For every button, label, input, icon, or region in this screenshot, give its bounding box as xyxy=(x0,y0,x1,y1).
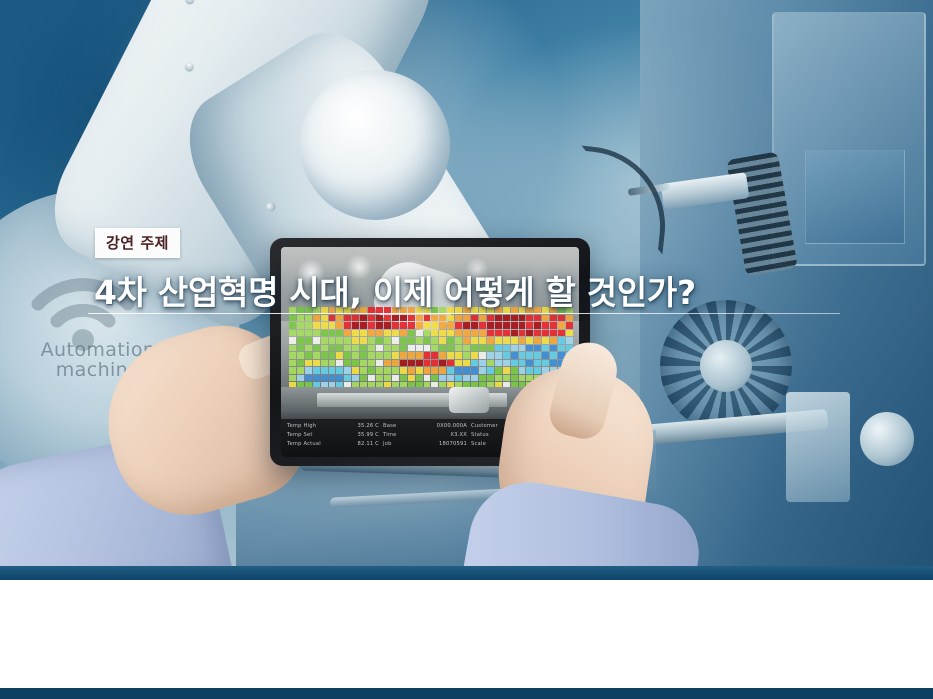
telemetry-value: 0X00.000A xyxy=(437,422,467,430)
ar-feed-tool-head xyxy=(449,387,489,413)
heatmap-cell xyxy=(384,315,391,322)
heatmap-cell xyxy=(558,345,565,352)
heatmap-cell xyxy=(368,375,375,382)
heatmap-cell xyxy=(534,367,541,374)
heatmap-cell xyxy=(321,375,328,382)
heatmap-cell xyxy=(471,337,478,344)
heatmap-cell xyxy=(495,375,502,382)
heatmap-cell xyxy=(305,367,312,374)
heatmap-cell xyxy=(511,330,518,337)
cnc-panel-screen xyxy=(805,150,905,244)
heatmap-cell xyxy=(392,315,399,322)
heatmap-cell xyxy=(360,322,367,329)
heatmap-cell xyxy=(424,315,431,322)
heatmap-cell xyxy=(329,360,336,367)
heatmap-cell xyxy=(479,352,486,359)
heatmap-cell xyxy=(526,315,533,322)
heatmap-cell xyxy=(297,375,304,382)
heatmap-cell xyxy=(439,330,446,337)
heatmap-cell xyxy=(376,322,383,329)
heatmap-cell xyxy=(439,375,446,382)
heatmap-cell xyxy=(376,352,383,359)
heatmap-cell xyxy=(542,360,549,367)
robot-arm-bolt xyxy=(265,201,277,213)
heatmap-cell xyxy=(534,352,541,359)
heatmap-cell xyxy=(534,360,541,367)
telemetry-key: Base xyxy=(383,422,396,430)
heatmap-cell xyxy=(321,330,328,337)
heatmap-cell xyxy=(511,352,518,359)
heatmap-cell xyxy=(471,367,478,374)
heatmap-cell xyxy=(471,330,478,337)
heatmap-cell xyxy=(558,315,565,322)
heatmap-cell xyxy=(550,337,557,344)
heatmap-cell xyxy=(368,322,375,329)
heatmap-cell xyxy=(392,330,399,337)
heatmap-cell xyxy=(558,322,565,329)
heatmap-cell xyxy=(487,345,494,352)
heatmap-cell xyxy=(384,322,391,329)
heatmap-cell xyxy=(400,315,407,322)
heatmap-cell xyxy=(431,367,438,374)
heatmap-cell xyxy=(376,375,383,382)
heatmap-cell xyxy=(566,322,573,329)
heatmap-cell xyxy=(495,337,502,344)
title-underline-rule xyxy=(88,313,840,314)
heatmap-cell xyxy=(439,337,446,344)
heatmap-cell xyxy=(455,337,462,344)
heatmap-cell xyxy=(408,315,415,322)
heatmap-cell xyxy=(526,367,533,374)
heatmap-cell xyxy=(416,337,423,344)
heatmap-cell xyxy=(495,360,502,367)
heatmap-cell xyxy=(384,360,391,367)
heatmap-cell xyxy=(321,322,328,329)
heatmap-cell xyxy=(526,322,533,329)
heatmap-cell xyxy=(297,315,304,322)
heatmap-cell xyxy=(400,375,407,382)
heatmap-cell xyxy=(447,337,454,344)
heatmap-cell xyxy=(297,352,304,359)
heatmap-cell xyxy=(329,352,336,359)
heatmap-cell xyxy=(297,322,304,329)
heatmap-cell xyxy=(329,375,336,382)
telemetry-column: Temp High35.26 CTemp Set35.99 CTemp Actu… xyxy=(287,422,379,457)
heatmap-cell xyxy=(463,360,470,367)
heatmap-cell xyxy=(336,360,343,367)
heatmap-cell xyxy=(400,322,407,329)
heatmap-cell xyxy=(329,367,336,374)
slide-title: 4차 산업혁명 시대, 이제 어떻게 할 것인가? xyxy=(94,266,696,314)
heatmap-cell xyxy=(392,345,399,352)
heatmap-cell xyxy=(511,322,518,329)
heatmap-cell xyxy=(313,330,320,337)
heatmap-cell xyxy=(566,315,573,322)
heatmap-cell xyxy=(439,345,446,352)
heatmap-cell xyxy=(455,315,462,322)
heatmap-cell xyxy=(455,367,462,374)
heatmap-cell xyxy=(344,345,351,352)
heatmap-cell xyxy=(503,375,510,382)
heatmap-cell xyxy=(305,352,312,359)
heatmap-cell xyxy=(416,360,423,367)
heatmap-cell xyxy=(479,322,486,329)
heatmap-cell xyxy=(519,330,526,337)
heatmap-cell xyxy=(360,360,367,367)
heatmap-cell xyxy=(336,315,343,322)
heatmap-cell xyxy=(368,337,375,344)
heatmap-cell xyxy=(519,322,526,329)
heatmap-cell xyxy=(447,360,454,367)
heatmap-cell xyxy=(526,337,533,344)
heatmap-cell xyxy=(416,375,423,382)
heatmap-cell xyxy=(487,360,494,367)
heatmap-cell xyxy=(519,345,526,352)
heatmap-cell xyxy=(313,352,320,359)
heatmap-cell xyxy=(352,375,359,382)
heatmap-cell xyxy=(313,337,320,344)
heatmap-cell xyxy=(487,322,494,329)
heatmap-cell xyxy=(487,367,494,374)
telemetry-row: Temp Set35.99 C xyxy=(287,431,379,439)
heatmap-cell xyxy=(424,345,431,352)
heatmap-cell xyxy=(352,315,359,322)
telemetry-key: Status xyxy=(471,431,489,439)
heatmap-cell xyxy=(392,360,399,367)
heatmap-cell xyxy=(534,322,541,329)
heatmap-cell xyxy=(321,360,328,367)
heatmap-cell xyxy=(503,367,510,374)
heatmap-cell xyxy=(400,367,407,374)
telemetry-key: Customer xyxy=(471,422,498,430)
heatmap-cell xyxy=(360,345,367,352)
heatmap-cell xyxy=(550,330,557,337)
heatmap-cell xyxy=(392,337,399,344)
heatmap-cell xyxy=(431,322,438,329)
heatmap-cell xyxy=(368,360,375,367)
heatmap-cell xyxy=(336,330,343,337)
thermal-heatmap-grid[interactable] xyxy=(289,307,573,389)
heatmap-cell xyxy=(463,315,470,322)
heatmap-cell xyxy=(321,315,328,322)
heatmap-cell xyxy=(511,367,518,374)
heatmap-cell xyxy=(550,345,557,352)
heatmap-cell xyxy=(297,345,304,352)
heatmap-cell xyxy=(344,375,351,382)
presentation-slide: Automation machine Temp High35.26 CTemp … xyxy=(0,0,933,699)
heatmap-cell xyxy=(526,345,533,352)
telemetry-key: Time xyxy=(383,431,397,439)
heatmap-cell xyxy=(471,322,478,329)
heatmap-cell xyxy=(297,367,304,374)
heatmap-cell xyxy=(400,337,407,344)
heatmap-cell xyxy=(368,352,375,359)
heatmap-cell xyxy=(360,352,367,359)
heatmap-cell xyxy=(329,322,336,329)
heatmap-cell xyxy=(408,345,415,352)
heatmap-cell xyxy=(336,352,343,359)
heatmap-cell xyxy=(503,315,510,322)
heatmap-cell xyxy=(519,360,526,367)
heatmap-cell xyxy=(519,337,526,344)
heatmap-cell xyxy=(558,330,565,337)
heatmap-cell xyxy=(503,345,510,352)
heatmap-cell xyxy=(384,337,391,344)
heatmap-cell xyxy=(344,330,351,337)
heatmap-cell xyxy=(566,330,573,337)
telemetry-key: Scale xyxy=(471,440,486,448)
heatmap-cell xyxy=(408,352,415,359)
heatmap-cell xyxy=(384,345,391,352)
heatmap-cell xyxy=(289,367,296,374)
heatmap-cell xyxy=(400,352,407,359)
heatmap-cell xyxy=(289,345,296,352)
heatmap-cell xyxy=(297,337,304,344)
heatmap-cell xyxy=(416,330,423,337)
heatmap-cell xyxy=(376,360,383,367)
heatmap-cell xyxy=(344,352,351,359)
telemetry-row: TimeX3.XX xyxy=(383,431,467,439)
heatmap-cell xyxy=(376,315,383,322)
heatmap-cell xyxy=(344,337,351,344)
heatmap-cell xyxy=(511,345,518,352)
heatmap-cell xyxy=(495,352,502,359)
telemetry-key: Job xyxy=(383,440,392,448)
heatmap-cell xyxy=(305,337,312,344)
heatmap-cell xyxy=(289,315,296,322)
heatmap-cell xyxy=(305,322,312,329)
heatmap-cell xyxy=(550,322,557,329)
topic-badge: 강연 주제 xyxy=(95,228,180,258)
heatmap-cell xyxy=(534,315,541,322)
heatmap-cell xyxy=(416,322,423,329)
heatmap-cell xyxy=(519,315,526,322)
heatmap-cell xyxy=(384,330,391,337)
heatmap-cell xyxy=(424,337,431,344)
telemetry-value: 18070591 xyxy=(439,440,467,448)
heatmap-cell xyxy=(408,330,415,337)
robot-arm-bolt xyxy=(184,0,196,6)
heatmap-cell xyxy=(479,345,486,352)
telemetry-value: X3.XX xyxy=(450,431,467,439)
heatmap-cell xyxy=(368,345,375,352)
heatmap-cell xyxy=(305,375,312,382)
heatmap-cell xyxy=(329,315,336,322)
heatmap-cell xyxy=(534,337,541,344)
photo-bottom-band xyxy=(0,566,933,580)
heatmap-cell xyxy=(503,322,510,329)
heatmap-cell xyxy=(542,337,549,344)
heatmap-cell xyxy=(439,367,446,374)
heatmap-cell xyxy=(471,360,478,367)
heatmap-cell xyxy=(431,352,438,359)
heatmap-cell xyxy=(511,315,518,322)
heatmap-cell xyxy=(558,337,565,344)
heatmap-cell xyxy=(526,360,533,367)
heatmap-cell xyxy=(550,360,557,367)
heatmap-cell xyxy=(400,330,407,337)
heatmap-cell xyxy=(463,367,470,374)
heatmap-cell xyxy=(542,330,549,337)
heatmap-cell xyxy=(336,367,343,374)
heatmap-cell xyxy=(455,330,462,337)
heatmap-cell xyxy=(511,360,518,367)
heatmap-cell xyxy=(424,352,431,359)
heatmap-cell xyxy=(487,375,494,382)
heatmap-cell xyxy=(352,345,359,352)
heatmap-cell xyxy=(321,337,328,344)
heatmap-cell xyxy=(360,330,367,337)
heatmap-cell xyxy=(344,315,351,322)
heatmap-cell xyxy=(439,352,446,359)
heatmap-cell xyxy=(439,315,446,322)
heatmap-cell xyxy=(431,360,438,367)
heatmap-cell xyxy=(479,330,486,337)
heatmap-cell xyxy=(439,360,446,367)
heatmap-cell xyxy=(344,367,351,374)
heatmap-cell xyxy=(479,315,486,322)
heatmap-cell xyxy=(368,367,375,374)
heatmap-cell xyxy=(368,330,375,337)
heatmap-cell xyxy=(313,375,320,382)
heatmap-cell xyxy=(471,352,478,359)
heatmap-cell xyxy=(463,337,470,344)
heatmap-cell xyxy=(495,315,502,322)
heatmap-cell xyxy=(360,337,367,344)
heatmap-cell xyxy=(487,315,494,322)
heatmap-cell xyxy=(400,345,407,352)
heatmap-cell xyxy=(463,345,470,352)
heatmap-cell xyxy=(360,367,367,374)
heatmap-cell xyxy=(526,352,533,359)
heatmap-cell xyxy=(447,352,454,359)
heatmap-cell xyxy=(519,352,526,359)
heatmap-cell xyxy=(503,337,510,344)
heatmap-cell xyxy=(305,330,312,337)
heatmap-cell xyxy=(550,315,557,322)
heatmap-cell xyxy=(305,360,312,367)
heatmap-cell xyxy=(408,367,415,374)
heatmap-cell xyxy=(376,337,383,344)
heatmap-cell xyxy=(352,367,359,374)
heatmap-cell xyxy=(313,322,320,329)
heatmap-cell xyxy=(511,375,518,382)
heatmap-cell xyxy=(447,315,454,322)
heatmap-cell xyxy=(471,315,478,322)
heatmap-cell xyxy=(542,345,549,352)
heatmap-cell xyxy=(313,360,320,367)
heatmap-cell xyxy=(455,322,462,329)
heatmap-cell xyxy=(479,360,486,367)
heatmap-cell xyxy=(424,322,431,329)
heatmap-cell xyxy=(424,375,431,382)
telemetry-key: Temp High xyxy=(287,422,316,430)
heatmap-cell xyxy=(376,345,383,352)
heatmap-cell xyxy=(463,322,470,329)
heatmap-cell xyxy=(431,375,438,382)
heatmap-cell xyxy=(344,322,351,329)
heatmap-cell xyxy=(336,375,343,382)
heatmap-cell xyxy=(352,322,359,329)
heatmap-cell xyxy=(400,360,407,367)
heatmap-cell xyxy=(336,322,343,329)
telemetry-row: Base0X00.000A xyxy=(383,422,467,430)
heatmap-cell xyxy=(352,330,359,337)
heatmap-cell xyxy=(519,367,526,374)
heatmap-cell xyxy=(392,352,399,359)
heatmap-cell xyxy=(447,345,454,352)
robot-arm-joint xyxy=(300,70,450,220)
heatmap-cell xyxy=(408,360,415,367)
heatmap-cell xyxy=(431,345,438,352)
heatmap-cell xyxy=(289,322,296,329)
heatmap-cell xyxy=(542,352,549,359)
heatmap-cell xyxy=(392,367,399,374)
heatmap-cell xyxy=(495,330,502,337)
heatmap-cell xyxy=(511,337,518,344)
heatmap-cell xyxy=(471,345,478,352)
heatmap-cell xyxy=(479,367,486,374)
heatmap-cell xyxy=(431,315,438,322)
heatmap-cell xyxy=(408,375,415,382)
heatmap-cell xyxy=(321,367,328,374)
heatmap-cell xyxy=(416,367,423,374)
heatmap-cell xyxy=(487,330,494,337)
heatmap-cell xyxy=(305,345,312,352)
heatmap-cell xyxy=(289,337,296,344)
telemetry-key: Temp Set xyxy=(287,431,313,439)
telemetry-row: Temp High35.26 C xyxy=(287,422,379,430)
telemetry-value: 35.99 C xyxy=(357,431,379,439)
heatmap-cell xyxy=(542,322,549,329)
heatmap-cell xyxy=(455,352,462,359)
cnc-flywheel-hub xyxy=(700,340,752,392)
heatmap-cell xyxy=(376,330,383,337)
heatmap-cell xyxy=(352,360,359,367)
heatmap-cell xyxy=(550,352,557,359)
heatmap-cell xyxy=(360,375,367,382)
heatmap-cell xyxy=(329,345,336,352)
heatmap-cell xyxy=(352,352,359,359)
heatmap-cell xyxy=(424,360,431,367)
heatmap-cell xyxy=(321,352,328,359)
heatmap-cell xyxy=(534,345,541,352)
slide-content-area xyxy=(0,580,933,688)
heatmap-cell xyxy=(344,360,351,367)
heatmap-cell xyxy=(471,375,478,382)
heatmap-cell xyxy=(305,315,312,322)
heatmap-cell xyxy=(431,330,438,337)
heatmap-cell xyxy=(424,367,431,374)
heatmap-cell xyxy=(384,375,391,382)
heatmap-cell xyxy=(463,352,470,359)
heatmap-cell xyxy=(352,337,359,344)
heatmap-cell xyxy=(360,315,367,322)
heatmap-cell xyxy=(329,330,336,337)
heatmap-cell xyxy=(384,367,391,374)
telemetry-value: 35.26 C xyxy=(357,422,379,430)
heatmap-cell xyxy=(297,330,304,337)
heatmap-cell xyxy=(416,345,423,352)
heatmap-cell xyxy=(526,330,533,337)
robot-arm-bolt xyxy=(183,61,195,73)
heatmap-cell xyxy=(447,322,454,329)
heatmap-cell xyxy=(534,330,541,337)
heatmap-cell xyxy=(447,367,454,374)
heatmap-cell xyxy=(463,375,470,382)
heatmap-cell xyxy=(392,375,399,382)
heatmap-cell xyxy=(289,330,296,337)
